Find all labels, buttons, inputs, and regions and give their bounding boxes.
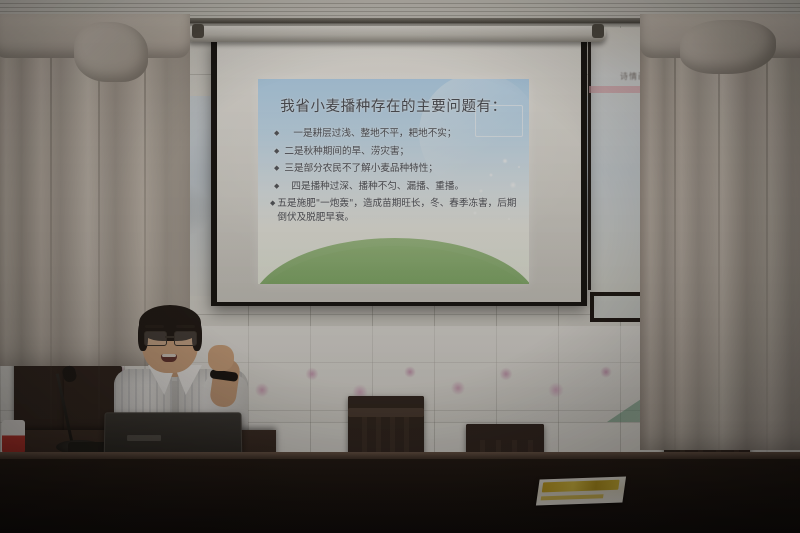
bullet-text: 三是部分农民不了解小麦品种特性； [284, 162, 438, 176]
list-item: ◆ 四是播种过深、播种不匀、漏播、重播。 [274, 180, 517, 194]
laptop-logo [127, 435, 161, 441]
bullet-text: 四是播种过深、播种不匀、漏播、重播。 [284, 180, 464, 194]
diamond-bullet-icon: ◆ [274, 164, 279, 174]
bullet-text: 五是施肥"一炮轰"，造成苗期旺长，冬、春季冻害，后期倒伏及脱肥早衰。 [277, 197, 517, 224]
chair-back [348, 396, 424, 458]
bullet-text: 一是耕层过浅、整地不平，耙地不实； [284, 127, 456, 141]
booklet-cover-band-secondary [541, 494, 604, 500]
slide-green-band [258, 238, 529, 284]
table-edge [0, 452, 800, 459]
diamond-bullet-icon: ◆ [270, 199, 275, 209]
presenter-teeth [162, 354, 176, 357]
list-item: ◆ 二是秋种期间的旱、涝灾害； [274, 145, 517, 159]
curtain-fold [98, 42, 100, 452]
bullet-text: 二是秋种期间的旱、涝灾害； [284, 145, 409, 159]
paper-cup [2, 420, 25, 456]
curtain-fold [766, 42, 768, 452]
presenter-eyebrow [145, 325, 164, 328]
chair-mid-rail [348, 408, 424, 417]
list-item: ◆ 一是耕层过浅、整地不平，耙地不实； [274, 127, 517, 141]
slide-title: 我省小麦播种存在的主要问题有： [258, 95, 529, 116]
list-item: ◆ 三是部分农民不了解小麦品种特性； [274, 162, 517, 176]
glasses-lens-right [174, 331, 197, 346]
diamond-bullet-icon: ◆ [274, 147, 279, 157]
chair-top-rail [466, 424, 544, 433]
glasses-lens-left [144, 331, 167, 346]
roller-cap-left [192, 24, 204, 38]
curtain-fold [674, 42, 676, 452]
booklet-cover-band [542, 480, 620, 493]
curtain-fold [718, 42, 720, 452]
list-item: ◆ 五是施肥"一炮轰"，造成苗期旺长，冬、春季冻害，后期倒伏及脱肥早衰。 [270, 197, 517, 224]
table-front-panel [0, 459, 800, 533]
chair-top-rail [348, 396, 424, 405]
curtain-right [640, 20, 800, 450]
booklet[interactable] [536, 477, 626, 506]
presenter-hand-gesture [208, 345, 234, 371]
projected-slide: 我省小麦播种存在的主要问题有： ◆ 一是耕层过浅、整地不平，耙地不实； ◆ 二是… [258, 79, 529, 284]
lecture-hall-photo: 诗情画意 我省小麦播种存在的主要问题有： ◆ 一是耕层过浅、整地不平，耙地不实；… [0, 0, 800, 533]
diamond-bullet-icon: ◆ [274, 182, 279, 192]
diamond-bullet-icon: ◆ [274, 129, 279, 139]
slide-bullet-list: ◆ 一是耕层过浅、整地不平，耙地不实； ◆ 二是秋种期间的旱、涝灾害； ◆ 三是… [274, 127, 517, 229]
presenter-eyebrow [176, 325, 195, 328]
curtain-fold [50, 42, 52, 452]
screen-roller-casing [186, 26, 606, 42]
glasses-icon [143, 331, 197, 345]
curtain-left-gather [74, 22, 148, 82]
curtain-right-gather [680, 20, 776, 74]
glasses-bridge [165, 336, 174, 338]
roller-cap-right [592, 24, 604, 38]
